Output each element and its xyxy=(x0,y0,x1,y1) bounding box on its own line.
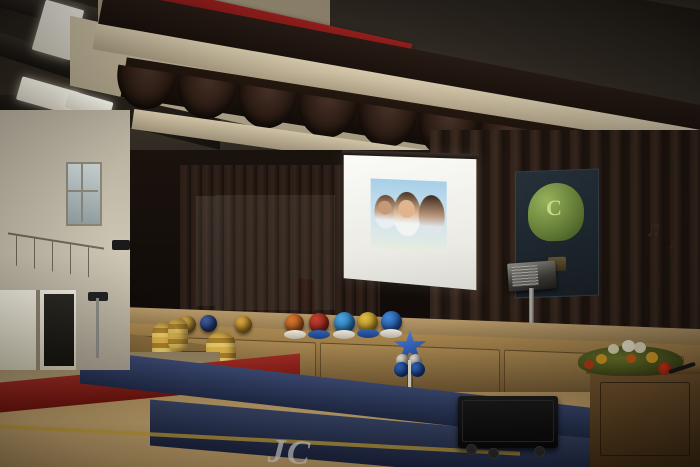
caster-wheel-icon xyxy=(488,448,499,459)
stage-light xyxy=(112,240,130,250)
blue-balloon xyxy=(410,362,425,377)
railing-post xyxy=(88,247,89,277)
light-stand-pole xyxy=(96,298,99,358)
upper-window xyxy=(66,162,102,226)
doorway-opening xyxy=(44,294,74,366)
student-face xyxy=(398,199,415,218)
gold-balloon-column xyxy=(168,318,188,352)
balloon-base xyxy=(357,329,379,338)
poster-logo-letter: C xyxy=(546,195,562,222)
window-mullion xyxy=(81,162,83,222)
flower-orange xyxy=(626,354,636,363)
flower-white xyxy=(634,342,646,353)
balloon-base xyxy=(333,330,355,339)
flower-yellow xyxy=(596,354,607,364)
flower-red xyxy=(584,360,594,369)
auditorium-photo: 新竹縣立自強國民中學第22屆 ♫ ♪ C 自強國中 xyxy=(0,0,700,467)
music-note-icon: ♫ xyxy=(645,216,662,242)
speaker-grill xyxy=(511,265,538,287)
caster-wheel-icon xyxy=(466,444,477,455)
planet-balloon xyxy=(200,315,217,332)
railing-post xyxy=(34,239,35,269)
student-face xyxy=(378,200,391,215)
railing-post xyxy=(16,236,17,266)
projection-screen xyxy=(344,154,477,290)
student-figure xyxy=(419,195,445,237)
podium-panel xyxy=(600,382,690,456)
railing-post xyxy=(52,241,53,271)
balloon-base xyxy=(284,330,306,339)
court-floor-marking: JC xyxy=(267,433,313,467)
projected-photo xyxy=(371,178,447,252)
road-case-lid xyxy=(462,400,554,442)
door-frame xyxy=(36,290,40,370)
balloon-base xyxy=(308,330,330,339)
blue-balloon xyxy=(394,362,409,377)
balloon-base xyxy=(380,329,402,338)
railing-post xyxy=(70,244,71,274)
music-note-icon: ♪ xyxy=(668,236,676,253)
planet-balloon xyxy=(235,316,252,333)
valance-swag xyxy=(112,65,178,114)
flower-white xyxy=(608,344,619,354)
caster-wheel-icon xyxy=(534,446,545,457)
flower-yellow xyxy=(646,352,658,363)
